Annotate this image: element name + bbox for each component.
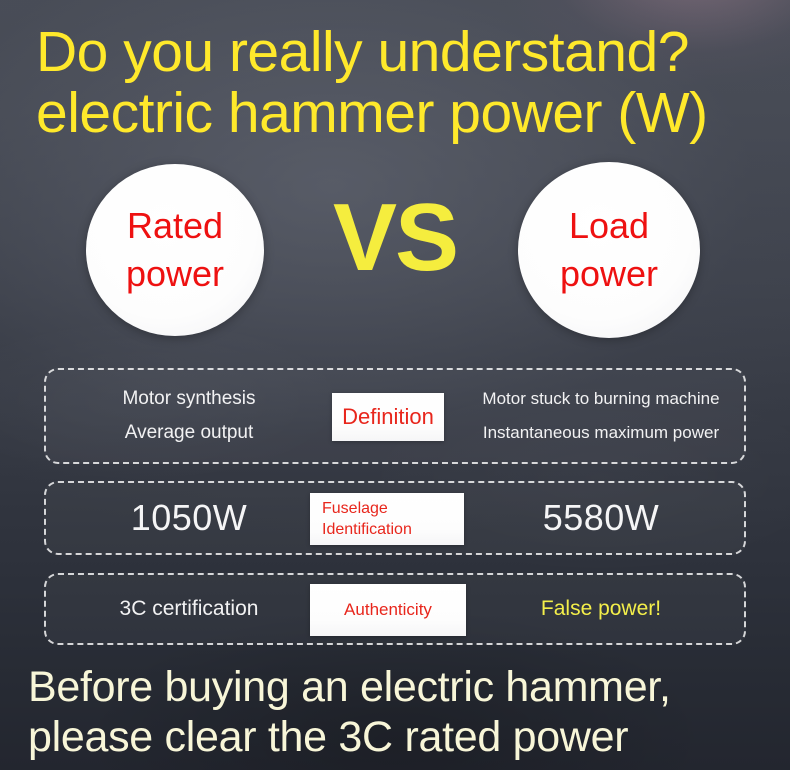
certification-value: 3C certification: [120, 595, 259, 623]
fuselage-right-cell: 5580W: [458, 483, 744, 553]
fuselage-left-cell: 1050W: [46, 483, 332, 553]
definition-chip-label: Definition: [342, 403, 434, 431]
definition-right-cell: Motor stuck to burning machine Instantan…: [458, 370, 744, 462]
fuselage-chip-label-line-2: Identification: [322, 519, 412, 540]
load-power-value: 5580W: [543, 498, 660, 538]
authenticity-chip: Authenticity: [310, 584, 466, 636]
false-power-value: False power!: [541, 595, 661, 623]
definition-right-line-2: Instantaneous maximum power: [483, 416, 719, 450]
comparison-row-authenticity: 3C certification Authenticity False powe…: [44, 573, 746, 645]
headline-line-1: Do you really understand?: [36, 20, 689, 84]
load-power-line-1: Load: [569, 205, 649, 246]
footer-line-1: Before buying an electric hammer,: [28, 663, 671, 711]
fuselage-identification-chip: Fuselage Identification: [310, 493, 464, 545]
definition-chip: Definition: [332, 393, 444, 441]
fuselage-chip-label-line-1: Fuselage: [322, 498, 388, 519]
rated-power-line-2: power: [126, 253, 224, 294]
versus-label: VS: [318, 188, 472, 288]
definition-left-cell: Motor synthesis Average output: [46, 370, 332, 462]
definition-left-line-1: Motor synthesis: [122, 382, 255, 416]
definition-right-line-1: Motor stuck to burning machine: [482, 382, 719, 416]
definition-left-line-2: Average output: [125, 416, 254, 450]
footer-callout: Before buying an electric hammer, please…: [28, 662, 768, 762]
rated-power-label: Rated power: [126, 202, 224, 298]
footer-line-2: please clear the 3C rated power: [28, 712, 768, 762]
infographic-poster: Do you really understand? electric hamme…: [0, 0, 790, 770]
rated-power-circle: Rated power: [86, 164, 264, 336]
rated-power-line-1: Rated: [127, 205, 223, 246]
authenticity-right-cell: False power!: [458, 575, 744, 643]
load-power-line-2: power: [560, 253, 658, 294]
rated-power-value: 1050W: [131, 498, 248, 538]
page-title: Do you really understand? electric hamme…: [36, 22, 756, 144]
comparison-table: Motor synthesis Average output Definitio…: [44, 368, 746, 645]
comparison-row-fuselage-identification: 1050W Fuselage Identification 5580W: [44, 481, 746, 555]
headline-line-2: electric hammer power (W): [36, 83, 756, 144]
comparison-row-definition: Motor synthesis Average output Definitio…: [44, 368, 746, 464]
load-power-circle: Load power: [518, 162, 700, 338]
load-power-label: Load power: [560, 202, 658, 298]
authenticity-left-cell: 3C certification: [46, 575, 332, 643]
authenticity-chip-label: Authenticity: [344, 598, 432, 622]
